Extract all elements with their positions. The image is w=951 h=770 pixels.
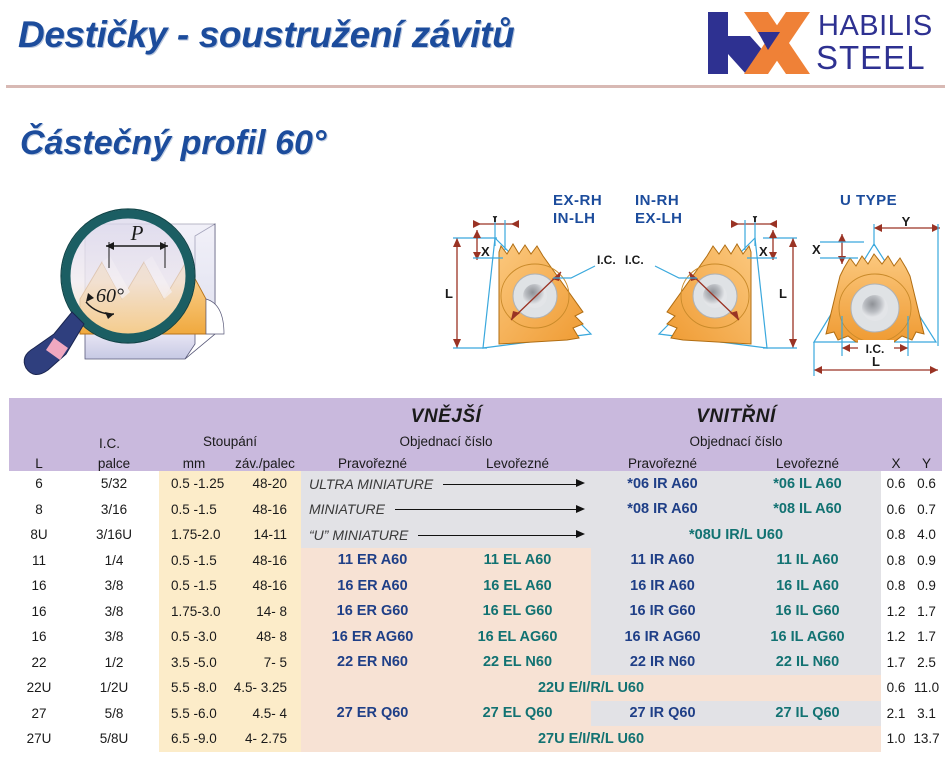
order-code: 27U E/I/R/L U60 (538, 731, 644, 747)
cell-x: 0.6 (881, 497, 911, 523)
th-ic-unit: palce (98, 456, 130, 471)
th-internal-sub: Objednací číslo (591, 428, 881, 449)
insert-2-l-label: L (779, 286, 787, 301)
insert-2-y-label: Y (751, 216, 760, 225)
th-pitch-tpi: záv./palec (229, 449, 301, 471)
cell-internal-right: 27 IR Q60 (591, 701, 734, 727)
cell-pitch-tpi: 7- 5 (229, 655, 295, 670)
cell-internal-left: 16 IL A60 (734, 573, 881, 599)
cell-x: 1.2 (881, 599, 911, 625)
insert-specification-table: VNĚJŠÍ VNITŘNÍ Stoupání Objednací číslo … (9, 398, 942, 752)
cell-external-left: 16 EL G60 (444, 599, 591, 625)
th-ic-label: palce (69, 449, 159, 471)
insert-diagram-ex-rh: I.C. L Y X (443, 216, 623, 386)
table-row: 111/40.5 -1.548-1611 ER A6011 EL A6011 I… (9, 548, 942, 574)
cell-internal-left: *08 IL A60 (734, 497, 881, 523)
cell-ic: 3/8 (69, 624, 159, 650)
cell-l: 11 (9, 548, 69, 574)
cell-pitch-mm: 1.75-3.0 (165, 604, 229, 619)
cell-y: 2.5 (911, 650, 942, 676)
cell-x: 0.6 (881, 471, 911, 497)
cell-internal-right: 16 IR A60 (591, 573, 734, 599)
table-row: 163/80.5 -3.048- 816 ER AG6016 EL AG6016… (9, 624, 942, 650)
cell-internal-left: 22 IL N60 (734, 650, 881, 676)
cell-x: 2.1 (881, 701, 911, 727)
cell-external-right: 11 ER A60 (301, 548, 444, 574)
cell-internal-span: *08U IR/L U60 (591, 522, 881, 548)
cell-ic: 1/2 (69, 650, 159, 676)
cell-internal-right: 11 IR A60 (591, 548, 734, 574)
cell-pitch: 0.5 -3.048- 8 (159, 624, 301, 650)
cell-x: 0.8 (881, 522, 911, 548)
table-row: 83/160.5 -1.548-16MINIATURE*08 IR A60*08… (9, 497, 942, 523)
cell-internal-right: 16 IR G60 (591, 599, 734, 625)
cell-note: “U” MINIATURE (301, 522, 591, 548)
insert-1-x-label: X (481, 244, 490, 259)
cell-pitch-tpi: 48- 8 (229, 629, 295, 644)
cell-l: 8U (9, 522, 69, 548)
cell-y: 0.7 (911, 497, 942, 523)
th-int-right: Pravořezné (591, 449, 734, 471)
insert-3-y-label: Y (902, 216, 911, 229)
cell-y: 0.9 (911, 573, 942, 599)
cell-ic: 3/16 (69, 497, 159, 523)
th-internal-group: VNITŘNÍ (591, 398, 881, 428)
cell-internal-right: 22 IR N60 (591, 650, 734, 676)
insert-3-title-line1: U TYPE (840, 192, 897, 209)
insert-3-l-label: L (872, 354, 880, 369)
cell-pitch-mm: 1.75-2.0 (165, 527, 229, 542)
th-pitch-mm: mm (159, 449, 229, 471)
th-ext-right: Pravořezné (301, 449, 444, 471)
th-pitch-group: Stoupání (159, 428, 301, 449)
cell-ic: 5/8 (69, 701, 159, 727)
cell-external-left: 16 EL A60 (444, 573, 591, 599)
cell-y: 1.7 (911, 599, 942, 625)
th-external-sub: Objednací číslo (301, 428, 591, 449)
cell-external-left: 16 EL AG60 (444, 624, 591, 650)
cell-pitch: 0.5 -1.548-16 (159, 497, 301, 523)
note-arrow-icon (395, 504, 585, 514)
cell-order-code-span: 22U E/I/R/L U60 (301, 675, 881, 701)
cell-y: 11.0 (911, 675, 942, 701)
cell-pitch-mm: 0.5 -3.0 (165, 629, 229, 644)
th-l (9, 398, 69, 449)
cell-external-left: 27 EL Q60 (444, 701, 591, 727)
cell-y: 4.0 (911, 522, 942, 548)
cell-pitch-mm: 0.5 -1.5 (165, 553, 229, 568)
insert-1-ic-label: I.C. (597, 253, 616, 267)
cell-x: 1.2 (881, 624, 911, 650)
th-y: Y (911, 449, 942, 471)
table-row: 221/23.5 -5.07- 522 ER N6022 EL N6022 IR… (9, 650, 942, 676)
cell-y: 0.6 (911, 471, 942, 497)
cell-pitch-mm: 5.5 -8.0 (165, 680, 229, 695)
cell-pitch-mm: 0.5 -1.25 (165, 476, 229, 491)
cell-pitch-tpi: 48-16 (229, 578, 295, 593)
th-y-spacer (911, 398, 942, 449)
table-row: 27U5/8U6.5 -9.04- 2.7527U E/I/R/L U601.0… (9, 726, 942, 752)
cell-pitch-mm: 6.5 -9.0 (165, 731, 229, 746)
brand-logo: HABILIS STEEL (706, 8, 944, 80)
section-subtitle: Částečný profil 60° (20, 124, 326, 163)
cell-pitch-mm: 5.5 -6.0 (165, 706, 229, 721)
cell-ic: 3/16U (69, 522, 159, 548)
cell-pitch-tpi: 14-11 (229, 527, 295, 542)
cell-pitch-mm: 0.5 -1.5 (165, 578, 229, 593)
cell-internal-right: *08 IR A60 (591, 497, 734, 523)
cell-l: 27U (9, 726, 69, 752)
cell-external-left: 11 EL A60 (444, 548, 591, 574)
cell-internal-left: 16 IL AG60 (734, 624, 881, 650)
cell-y: 1.7 (911, 624, 942, 650)
cell-pitch: 5.5 -8.04.5- 3.25 (159, 675, 301, 701)
cell-pitch-tpi: 48-20 (229, 476, 295, 491)
table-row: 8U3/16U1.75-2.014-11“U” MINIATURE*08U IR… (9, 522, 942, 548)
cell-pitch-tpi: 48-16 (229, 502, 295, 517)
table-row: 163/80.5 -1.548-1616 ER A6016 EL A6016 I… (9, 573, 942, 599)
note-arrow-icon (418, 530, 585, 540)
th-ext-left: Levořezné (444, 449, 591, 471)
cell-external-right: 16 ER A60 (301, 573, 444, 599)
th-int-left: Levořezné (734, 449, 881, 471)
note-arrow-icon (443, 479, 585, 489)
cell-pitch: 1.75-3.014- 8 (159, 599, 301, 625)
order-code: 22U E/I/R/L U60 (538, 680, 644, 696)
cell-internal-left: 16 IL G60 (734, 599, 881, 625)
cell-pitch: 0.5 -1.548-16 (159, 573, 301, 599)
cell-l: 6 (9, 471, 69, 497)
order-code-internal: *08U IR/L U60 (689, 527, 783, 543)
cell-pitch-tpi: 48-16 (229, 553, 295, 568)
cell-x: 0.8 (881, 573, 911, 599)
header-divider (6, 85, 945, 88)
cell-external-right: 16 ER G60 (301, 599, 444, 625)
cell-y: 13.7 (911, 726, 942, 752)
th-x-spacer (881, 398, 911, 449)
cell-l: 22U (9, 675, 69, 701)
cell-external-left: 22 EL N60 (444, 650, 591, 676)
note-text: “U” MINIATURE (301, 527, 408, 543)
insert-2-ic-label: I.C. (625, 253, 644, 267)
th-ic-top-label: I.C. (99, 436, 120, 451)
page-title: Destičky - soustružení závitů (18, 14, 514, 56)
note-text: ULTRA MINIATURE (301, 476, 433, 492)
cell-internal-left: *06 IL A60 (734, 471, 881, 497)
habilis-logo-mark (706, 10, 814, 76)
cell-ic: 3/8 (69, 573, 159, 599)
page-header: Destičky - soustružení závitů HABILIS ST… (0, 0, 951, 95)
insert-1-title-line1: EX-RH (553, 192, 602, 209)
cell-ic: 1/4 (69, 548, 159, 574)
cell-pitch-tpi: 14- 8 (229, 604, 295, 619)
cell-internal-left: 11 IL A60 (734, 548, 881, 574)
cell-x: 0.6 (881, 675, 911, 701)
cell-internal-left: 27 IL Q60 (734, 701, 881, 727)
table-header: VNĚJŠÍ VNITŘNÍ Stoupání Objednací číslo … (9, 398, 942, 471)
cell-l: 8 (9, 497, 69, 523)
cell-pitch-mm: 3.5 -5.0 (165, 655, 229, 670)
insert-diagram-u-type: Y X I.C. L (800, 216, 950, 391)
cell-order-code-span: 27U E/I/R/L U60 (301, 726, 881, 752)
cell-pitch-tpi: 4.5- 4 (229, 706, 295, 721)
cell-internal-right: *06 IR A60 (591, 471, 734, 497)
cell-x: 1.7 (881, 650, 911, 676)
cell-ic: 5/32 (69, 471, 159, 497)
angle-label: 60° (96, 285, 124, 307)
cell-pitch: 6.5 -9.04- 2.75 (159, 726, 301, 752)
cell-l: 22 (9, 650, 69, 676)
insert-2-title-line1: IN-RH (635, 192, 679, 209)
cell-l: 27 (9, 701, 69, 727)
thread-profile-illustration: P 60° (10, 184, 290, 384)
cell-note: ULTRA MINIATURE (301, 471, 591, 497)
cell-l: 16 (9, 573, 69, 599)
table-row: 275/85.5 -6.04.5- 427 ER Q6027 EL Q6027 … (9, 701, 942, 727)
insert-2-x-label: X (759, 244, 768, 259)
cell-y: 3.1 (911, 701, 942, 727)
cell-pitch: 0.5 -1.548-16 (159, 548, 301, 574)
cell-l: 16 (9, 624, 69, 650)
insert-diagram-in-rh: I.C. L Y X (617, 216, 807, 386)
logo-word-habilis: HABILIS (818, 12, 933, 41)
table-row: 65/320.5 -1.2548-20ULTRA MINIATURE*06 IR… (9, 471, 942, 497)
cell-ic: 5/8U (69, 726, 159, 752)
table-body: 65/320.5 -1.2548-20ULTRA MINIATURE*06 IR… (9, 471, 942, 752)
table-row: 22U1/2U5.5 -8.04.5- 3.2522U E/I/R/L U600… (9, 675, 942, 701)
insert-1-l-label: L (445, 286, 453, 301)
cell-pitch: 1.75-2.014-11 (159, 522, 301, 548)
cell-external-right: 16 ER AG60 (301, 624, 444, 650)
illustration-row: P 60° EX-RH IN-LH IN-RH EX-LH U TYPE (0, 178, 951, 393)
cell-ic: 3/8 (69, 599, 159, 625)
cell-pitch: 3.5 -5.07- 5 (159, 650, 301, 676)
pitch-symbol-label: P (130, 221, 144, 245)
cell-l: 16 (9, 599, 69, 625)
cell-pitch-mm: 0.5 -1.5 (165, 502, 229, 517)
cell-x: 0.8 (881, 548, 911, 574)
cell-y: 0.9 (911, 548, 942, 574)
cell-ic: 1/2U (69, 675, 159, 701)
insert-3-x-label: X (812, 242, 821, 257)
cell-note: MINIATURE (301, 497, 591, 523)
th-external-group: VNĚJŠÍ (301, 398, 591, 428)
th-l-label: L (9, 449, 69, 471)
cell-x: 1.0 (881, 726, 911, 752)
cell-external-right: 27 ER Q60 (301, 701, 444, 727)
th-pitch-spacer (159, 398, 301, 428)
logo-word-steel: STEEL (816, 41, 926, 74)
logo-wordmark: HABILIS STEEL (818, 8, 944, 80)
insert-1-y-label: Y (491, 216, 500, 225)
th-x: X (881, 449, 911, 471)
cell-pitch: 0.5 -1.2548-20 (159, 471, 301, 497)
cell-pitch: 5.5 -6.04.5- 4 (159, 701, 301, 727)
cell-external-right: 22 ER N60 (301, 650, 444, 676)
cell-internal-right: 16 IR AG60 (591, 624, 734, 650)
note-text: MINIATURE (301, 501, 385, 517)
cell-pitch-tpi: 4.5- 3.25 (229, 680, 295, 695)
table-row: 163/81.75-3.014- 816 ER G6016 EL G6016 I… (9, 599, 942, 625)
cell-pitch-tpi: 4- 2.75 (229, 731, 295, 746)
